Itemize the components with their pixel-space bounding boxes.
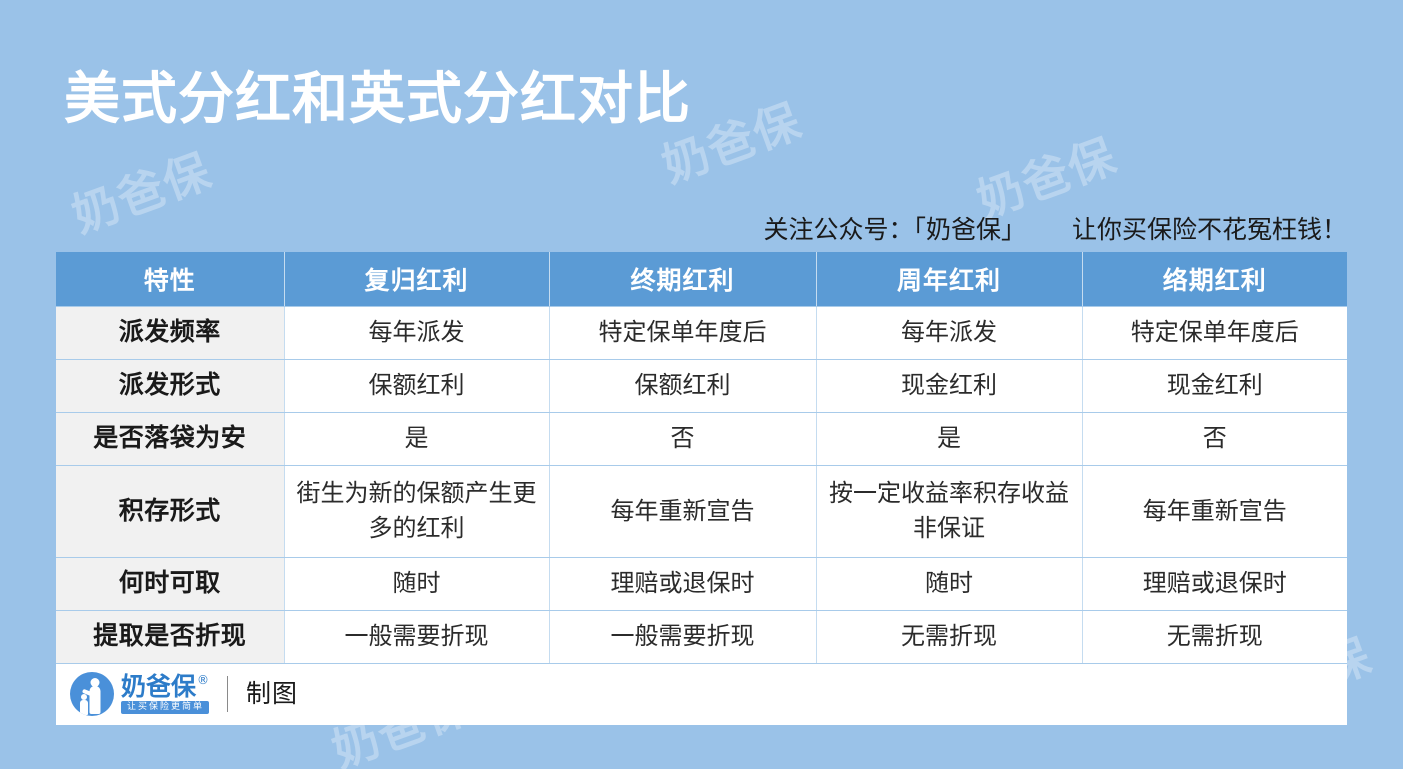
table-cell: 街生为新的保额产生更多的红利 [284,465,549,557]
table-header-row: 特性 复归红利 终期红利 周年红利 络期红利 [56,252,1347,306]
logo-wordmark: 奶爸保 ® 让买保险更简单 [121,674,209,714]
table-cell: 每年重新宣告 [549,465,816,557]
table-cell: 随时 [284,557,549,610]
table-cell: 特定保单年度后 [1082,306,1347,359]
table-cell: 按一定收益率积存收益非保证 [816,465,1082,557]
table-cell: 每年派发 [284,306,549,359]
footer-inner: 奶爸保 ® 让买保险更简单 制图 [70,672,1347,716]
registered-trademark-icon: ® [197,674,209,686]
page-title: 美式分红和英式分红对比 [64,66,691,133]
column-header-annual: 周年红利 [816,252,1082,306]
footer-divider [227,676,228,712]
logo-name: 奶爸保 [121,674,196,699]
table-footer-row: 奶爸保 ® 让买保险更简单 制图 [56,663,1347,725]
table-cell: 理赔或退保时 [549,557,816,610]
table-cell: 每年重新宣告 [1082,465,1347,557]
table-row: 提取是否折现 一般需要折现 一般需要折现 无需折现 无需折现 [56,610,1347,663]
table-cell: 特定保单年度后 [549,306,816,359]
table-footer-cell: 奶爸保 ® 让买保险更简单 制图 [56,663,1347,725]
family-logo-icon [70,672,114,716]
table-cell: 无需折现 [1082,610,1347,663]
table-row: 何时可取 随时 理赔或退保时 随时 理赔或退保时 [56,557,1347,610]
slogan-text: 让你买保险不花冤枉钱！ [1072,210,1347,246]
table-cell: 一般需要折现 [284,610,549,663]
row-label: 派发频率 [56,306,284,359]
row-label: 积存形式 [56,465,284,557]
table-header: 特性 复归红利 终期红利 周年红利 络期红利 [56,252,1347,306]
table-cell: 无需折现 [816,610,1082,663]
table-cell: 一般需要折现 [549,610,816,663]
follow-account-text: 关注公众号：「奶爸保」 [763,210,1026,246]
table-body: 派发频率 每年派发 特定保单年度后 每年派发 特定保单年度后 派发形式 保额红利… [56,306,1347,725]
column-header-reversionary: 复归红利 [284,252,549,306]
table-row: 派发频率 每年派发 特定保单年度后 每年派发 特定保单年度后 [56,306,1347,359]
table-cell: 随时 [816,557,1082,610]
table-cell: 现金红利 [1082,359,1347,412]
row-label: 何时可取 [56,557,284,610]
table-cell: 保额红利 [284,359,549,412]
table-cell: 否 [1082,412,1347,465]
table-row: 是否落袋为安 是 否 是 否 [56,412,1347,465]
logo-name-row: 奶爸保 ® [121,674,209,699]
footer-note: 制图 [246,676,298,712]
table-cell: 否 [549,412,816,465]
column-header-final: 络期红利 [1082,252,1347,306]
row-label: 派发形式 [56,359,284,412]
column-header-feature: 特性 [56,252,284,306]
table-cell: 现金红利 [816,359,1082,412]
column-header-terminal: 终期红利 [549,252,816,306]
table-cell: 是 [284,412,549,465]
table-cell: 是 [816,412,1082,465]
page-root: 美式分红和英式分红对比 关注公众号：「奶爸保」 让你买保险不花冤枉钱！ 特性 复… [0,0,1403,769]
comparison-table: 特性 复归红利 终期红利 周年红利 络期红利 派发频率 每年派发 特定保单年度后… [56,252,1347,725]
row-label: 是否落袋为安 [56,412,284,465]
table-cell: 每年派发 [816,306,1082,359]
logo-tagline: 让买保险更简单 [121,701,209,714]
brand-logo: 奶爸保 ® 让买保险更简单 [70,672,209,716]
table-row: 派发形式 保额红利 保额红利 现金红利 现金红利 [56,359,1347,412]
table-row: 积存形式 街生为新的保额产生更多的红利 每年重新宣告 按一定收益率积存收益非保证… [56,465,1347,557]
table-cell: 保额红利 [549,359,816,412]
row-label: 提取是否折现 [56,610,284,663]
table-cell: 理赔或退保时 [1082,557,1347,610]
subtitle-row: 关注公众号：「奶爸保」 让你买保险不花冤枉钱！ [763,210,1347,246]
